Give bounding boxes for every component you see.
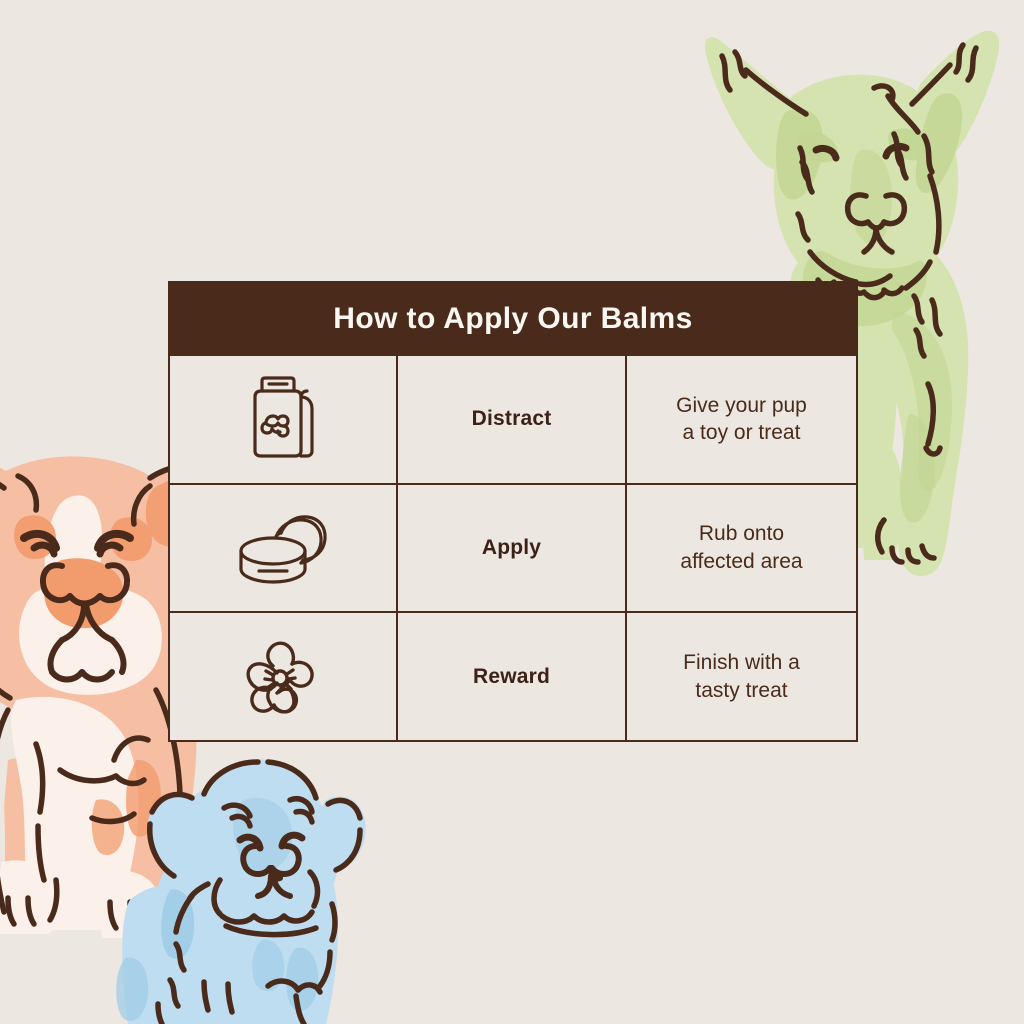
description-line-2: a toy or treat — [683, 421, 801, 444]
step-name-cell: Distract — [398, 356, 627, 483]
step-description: Give your pup a toy or treat — [662, 392, 821, 447]
table-row: Distract Give your pup a toy or treat — [170, 356, 856, 485]
description-line-1: Give your pup — [676, 394, 807, 417]
description-line-1: Finish with a — [683, 651, 800, 674]
description-line-2: tasty treat — [695, 679, 787, 702]
step-description: Finish with a tasty treat — [669, 649, 814, 704]
table-row: Apply Rub onto affected area — [170, 485, 856, 614]
page-title: How to Apply Our Balms — [333, 304, 692, 334]
table-body: Distract Give your pup a toy or treat — [168, 356, 858, 742]
description-line-1: Rub onto — [699, 522, 784, 545]
step-icon-cell — [170, 356, 398, 483]
step-name-cell: Apply — [398, 485, 627, 612]
description-line-2: affected area — [680, 550, 802, 573]
how-to-apply-table: How to Apply Our Balms — [168, 281, 858, 742]
table-header: How to Apply Our Balms — [168, 281, 858, 356]
poster-canvas: How to Apply Our Balms — [0, 0, 1024, 1024]
step-description-cell: Rub onto affected area — [627, 485, 856, 612]
step-label: Distract — [472, 407, 552, 431]
step-label: Apply — [482, 536, 541, 560]
step-description: Rub onto affected area — [666, 520, 816, 575]
step-label: Reward — [473, 665, 550, 689]
bone-with-bow-icon — [227, 626, 339, 728]
step-description-cell: Give your pup a toy or treat — [627, 356, 856, 483]
step-icon-cell — [170, 485, 398, 612]
step-icon-cell — [170, 613, 398, 740]
treat-bag-icon — [227, 368, 339, 470]
step-description-cell: Finish with a tasty treat — [627, 613, 856, 740]
table-row: Reward Finish with a tasty treat — [170, 613, 856, 740]
blue-dog-shapes — [116, 759, 366, 1024]
balm-tin-icon — [227, 497, 339, 599]
step-name-cell: Reward — [398, 613, 627, 740]
